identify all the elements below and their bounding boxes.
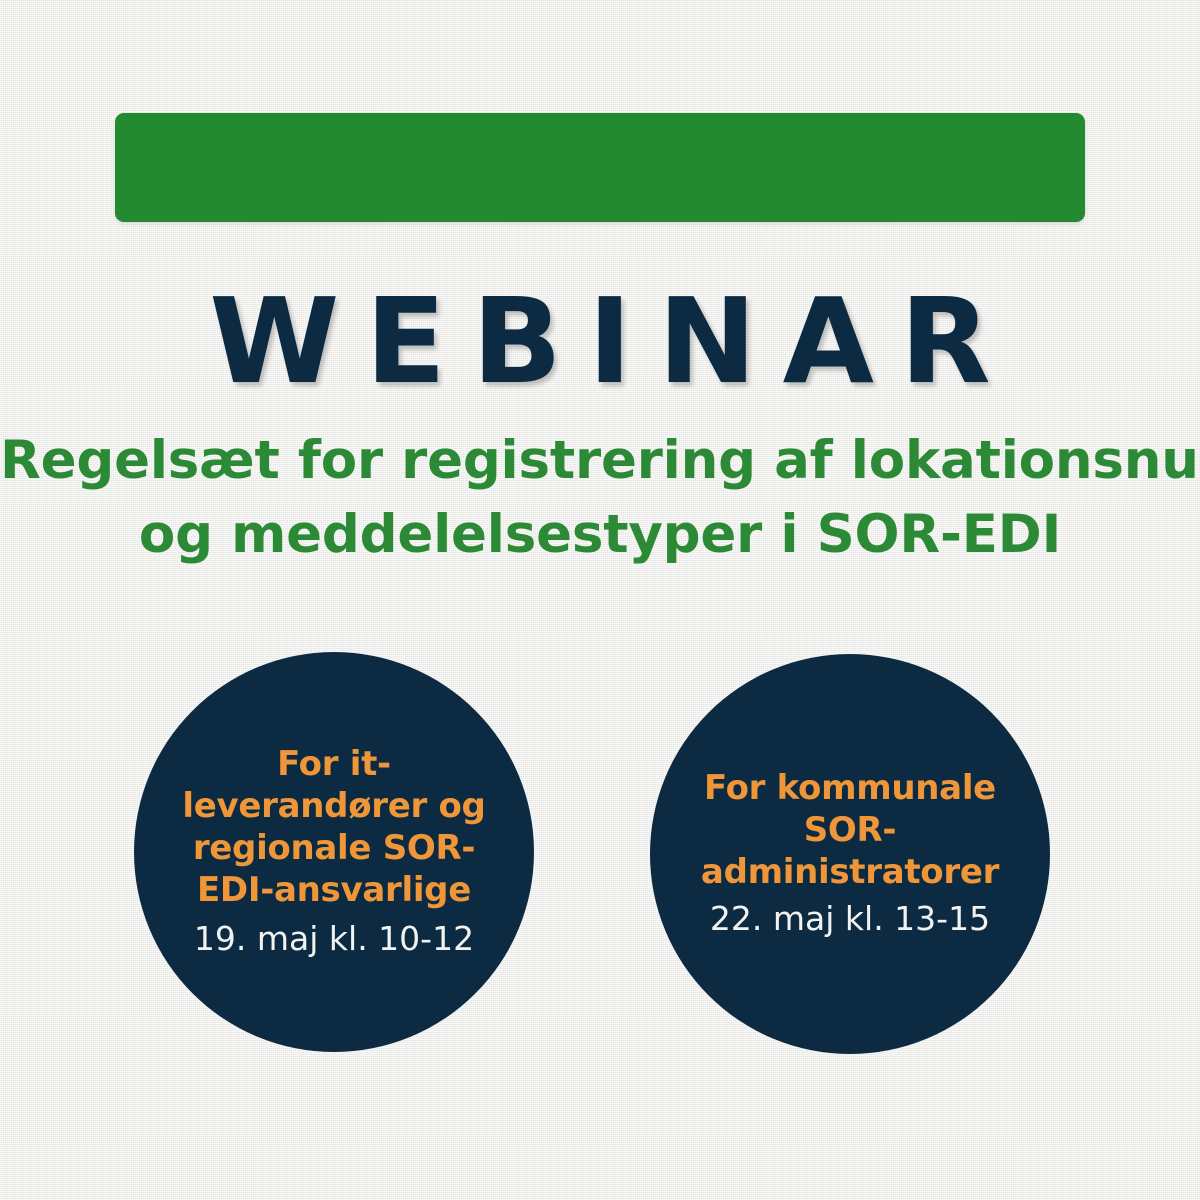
headline-line-2: og meddelelsestyper i SOR-EDI	[0, 498, 1200, 572]
webinar-poster: WEBINAR Regelsæt for registrering af lok…	[0, 0, 1200, 1200]
headline-line-1: Regelsæt for registrering af lokationsnu…	[0, 424, 1200, 498]
green-banner-bar	[115, 113, 1085, 222]
session-date: 19. maj kl. 10-12	[194, 917, 474, 961]
session-title: For it-leverandører og regionale SOR-EDI…	[164, 743, 504, 911]
session-title: For kommunale SOR-administratorer	[666, 767, 1034, 893]
headline: Regelsæt for registrering af lokationsnu…	[0, 424, 1200, 572]
session-circle-kommunale-administratorer: For kommunale SOR-administratorer 22. ma…	[650, 654, 1050, 1054]
session-date: 22. maj kl. 13-15	[710, 897, 990, 941]
session-circle-it-leverandoerer: For it-leverandører og regionale SOR-EDI…	[134, 652, 534, 1052]
page-title: WEBINAR	[0, 281, 1200, 401]
